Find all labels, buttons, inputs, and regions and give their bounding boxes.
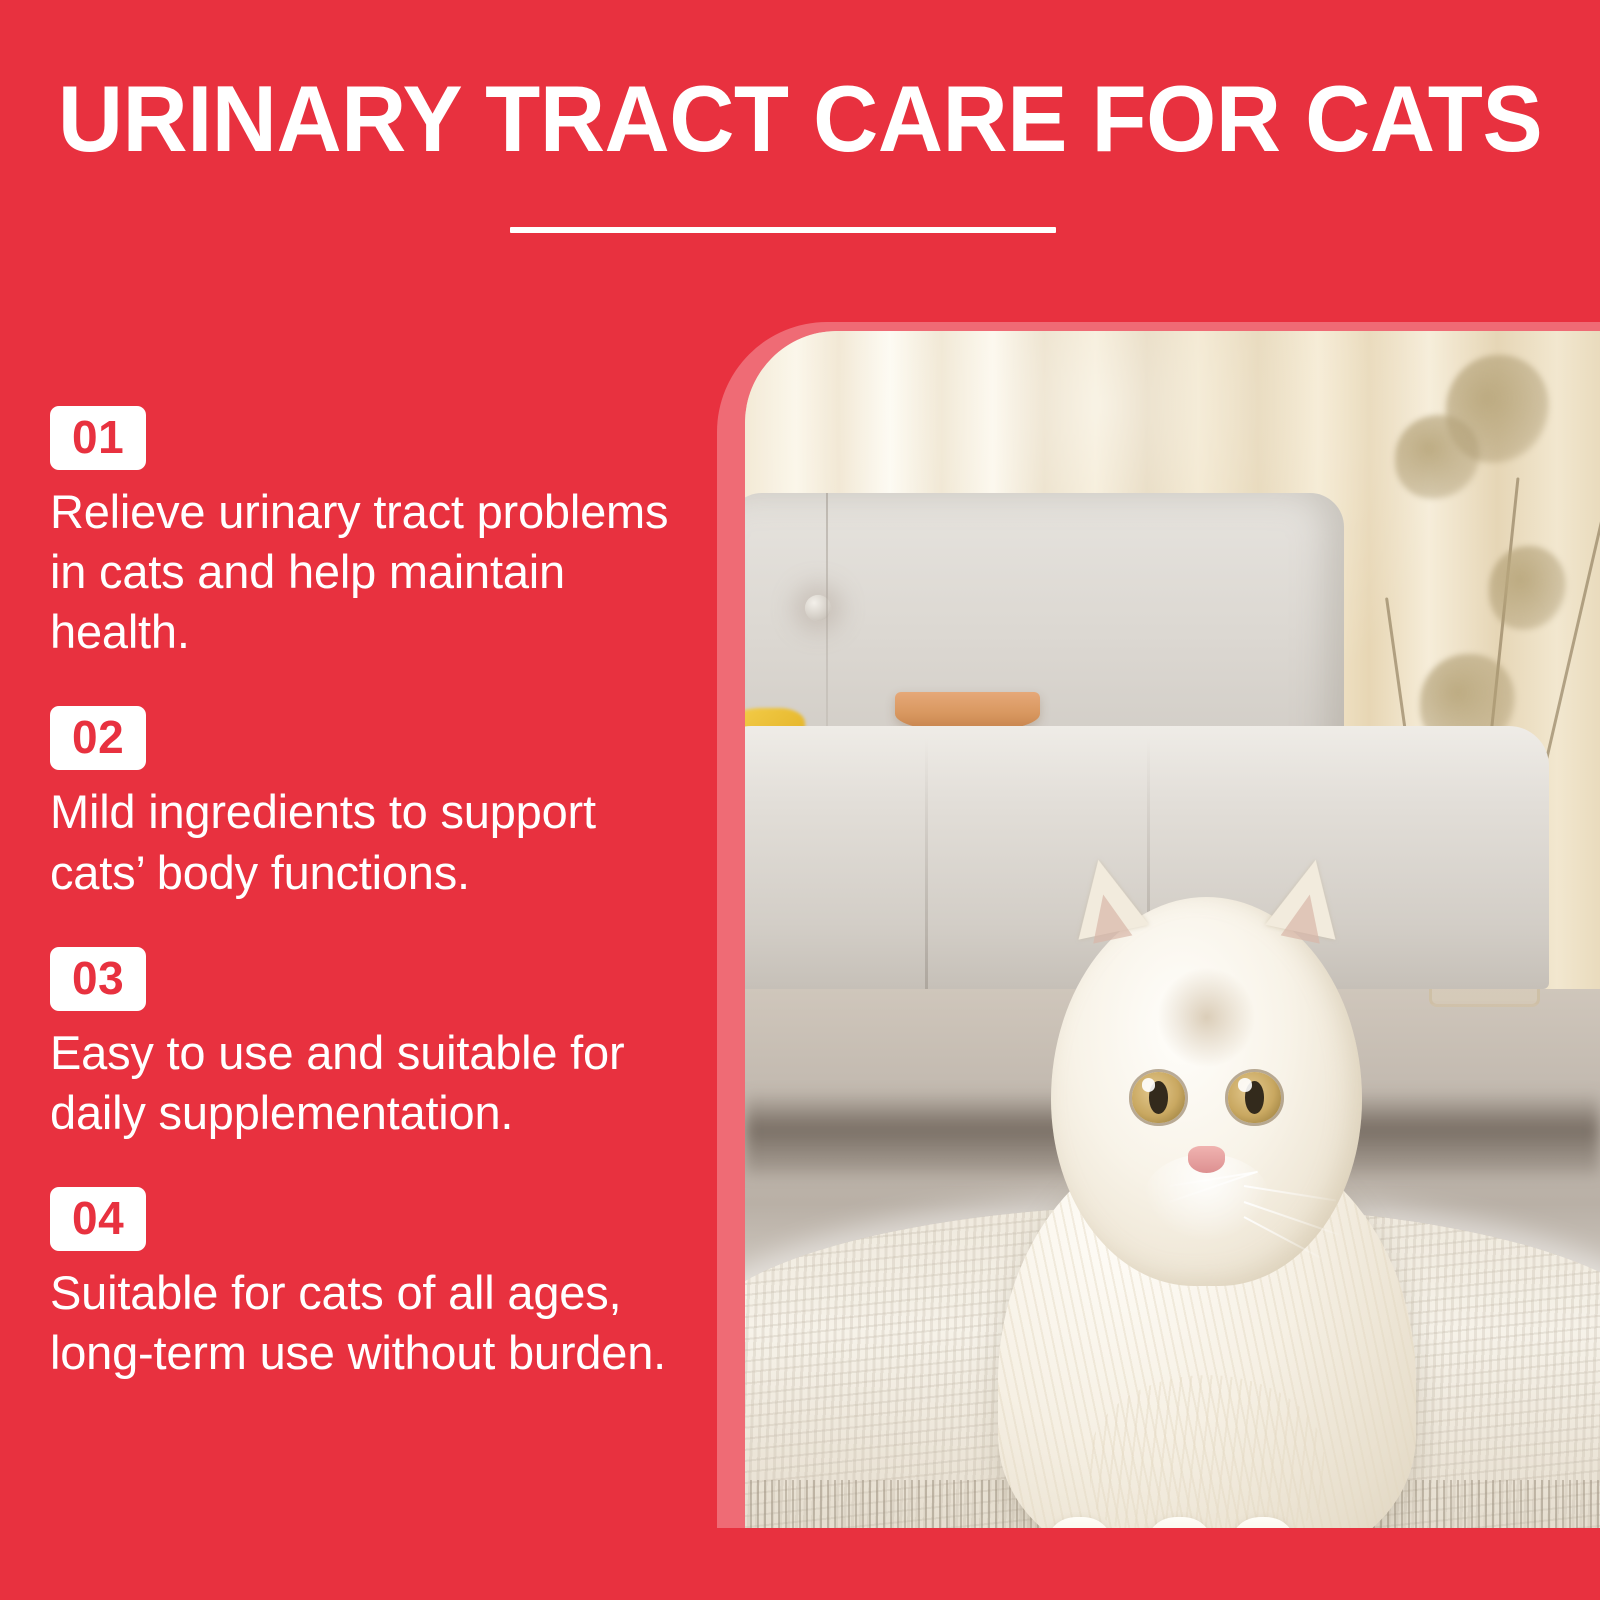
list-item: 04 Suitable for cats of all ages, long-t… (50, 1187, 690, 1383)
cat-eye-right (1228, 1072, 1281, 1123)
photo-scene (745, 331, 1600, 1528)
list-item: 03 Easy to use and suitable for daily su… (50, 947, 690, 1143)
cat-eye-left (1132, 1072, 1185, 1123)
sofa-seam (925, 738, 928, 989)
feature-number-badge: 01 (50, 406, 146, 470)
product-photo (745, 331, 1600, 1528)
feature-number-badge: 02 (50, 706, 146, 770)
sofa-tuft-button (805, 595, 831, 621)
feature-number-badge: 04 (50, 1187, 146, 1251)
cat-paw (1048, 1517, 1111, 1528)
cat-chest-fur (1090, 1375, 1324, 1528)
feature-description: Easy to use and suitable for daily suppl… (50, 1023, 690, 1143)
cat-eye-highlight (1142, 1078, 1156, 1091)
list-item: 02 Mild ingredients to support cats’ bod… (50, 706, 690, 902)
feature-description: Suitable for cats of all ages, long-term… (50, 1263, 670, 1383)
feature-description: Mild ingredients to support cats’ body f… (50, 782, 690, 902)
feature-list: 01 Relieve urinary tract problems in cat… (50, 406, 690, 1383)
title-divider (510, 227, 1056, 233)
cat-eye-highlight (1238, 1078, 1252, 1091)
feature-description: Relieve urinary tract problems in cats a… (50, 482, 670, 662)
list-item: 01 Relieve urinary tract problems in cat… (50, 406, 690, 662)
feature-number-badge: 03 (50, 947, 146, 1011)
page-title: URINARY TRACT CARE FOR CATS (32, 70, 1568, 169)
cat-photo-subject (984, 870, 1429, 1528)
cat-forehead-marking (1157, 967, 1257, 1068)
cat-head (1051, 897, 1362, 1286)
